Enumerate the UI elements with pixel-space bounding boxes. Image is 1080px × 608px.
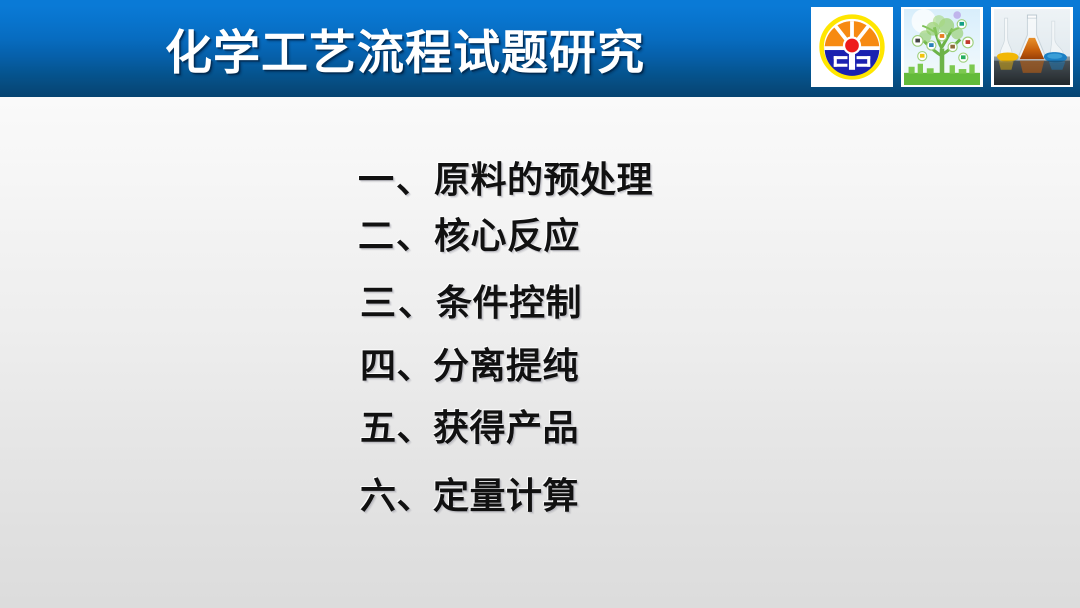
outline-item-5: 五、获得产品 xyxy=(360,399,579,451)
school-emblem-logo xyxy=(811,7,893,87)
outline-item-6-number: 六、 xyxy=(360,476,433,517)
outline-item-3-label: 条件控制 xyxy=(436,283,582,324)
outline-item-5-number: 五、 xyxy=(360,408,433,449)
outline-item-4-label: 分离提纯 xyxy=(433,346,579,387)
erlenmeyer-flask-icon xyxy=(993,9,1071,85)
outline-item-2: 二、核心反应 xyxy=(358,207,580,259)
outline-item-4: 四、分离提纯 xyxy=(360,337,579,389)
green-tree-infographic xyxy=(901,7,983,87)
laboratory-glassware-photo xyxy=(991,7,1073,87)
school-emblem-icon xyxy=(813,9,891,85)
outline-item-5-label: 获得产品 xyxy=(433,408,579,449)
slide-header-band: 化学工艺流程试题研究 xyxy=(0,0,1080,97)
outline-item-1: 一、原料的预处理 xyxy=(358,151,653,203)
outline-item-6-label: 定量计算 xyxy=(433,476,579,517)
presentation-slide: 化学工艺流程试题研究 xyxy=(0,0,1080,608)
outline-item-3: 三、条件控制 xyxy=(360,274,582,326)
outline-item-1-number: 一、 xyxy=(358,160,434,201)
green-tree-icon xyxy=(903,9,981,85)
outline-item-4-number: 四、 xyxy=(360,346,433,387)
outline-item-6: 六、定量计算 xyxy=(360,467,579,519)
slide-title: 化学工艺流程试题研究 xyxy=(0,21,810,87)
outline-item-1-label: 原料的预处理 xyxy=(434,160,653,201)
outline-item-2-number: 二、 xyxy=(358,216,434,257)
outline-item-3-number: 三、 xyxy=(360,283,436,324)
outline-item-2-label: 核心反应 xyxy=(434,216,580,257)
